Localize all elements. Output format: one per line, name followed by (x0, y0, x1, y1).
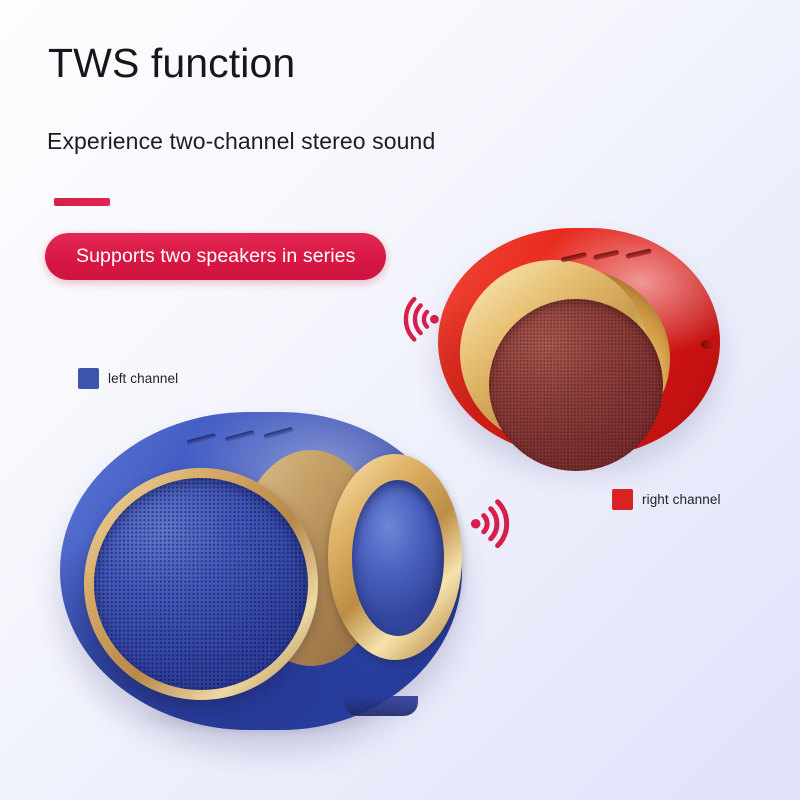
speaker-blue-foot (344, 696, 418, 716)
page-subtitle: Experience two-channel stereo sound (47, 128, 435, 155)
legend-right-channel: right channel (612, 489, 721, 510)
speaker-blue-shell (60, 412, 462, 730)
color-swatch-icon (612, 489, 633, 510)
bluetooth-speaker-blue (44, 400, 484, 760)
speaker-red-side-port (701, 340, 714, 349)
speaker-red-grille (489, 299, 663, 471)
speaker-blue-grille-rim (84, 468, 318, 700)
feature-badge: Supports two speakers in series (45, 233, 386, 280)
speaker-blue-grille (94, 478, 308, 690)
speaker-red-buttons (560, 227, 685, 287)
promo-banner: TWS function Experience two-channel ster… (0, 0, 800, 800)
speaker-red-gold-rim (460, 260, 648, 446)
legend-left-channel: left channel (78, 368, 178, 389)
feature-badge-label: Supports two speakers in series (76, 245, 355, 268)
page-title: TWS function (48, 42, 295, 85)
legend-right-channel-label: right channel (642, 492, 721, 507)
speaker-blue-ring-aperture (352, 480, 444, 636)
color-swatch-icon (78, 368, 99, 389)
accent-bar (54, 198, 110, 206)
speaker-blue-gold-ring (328, 454, 462, 660)
legend-left-channel-label: left channel (108, 371, 178, 386)
